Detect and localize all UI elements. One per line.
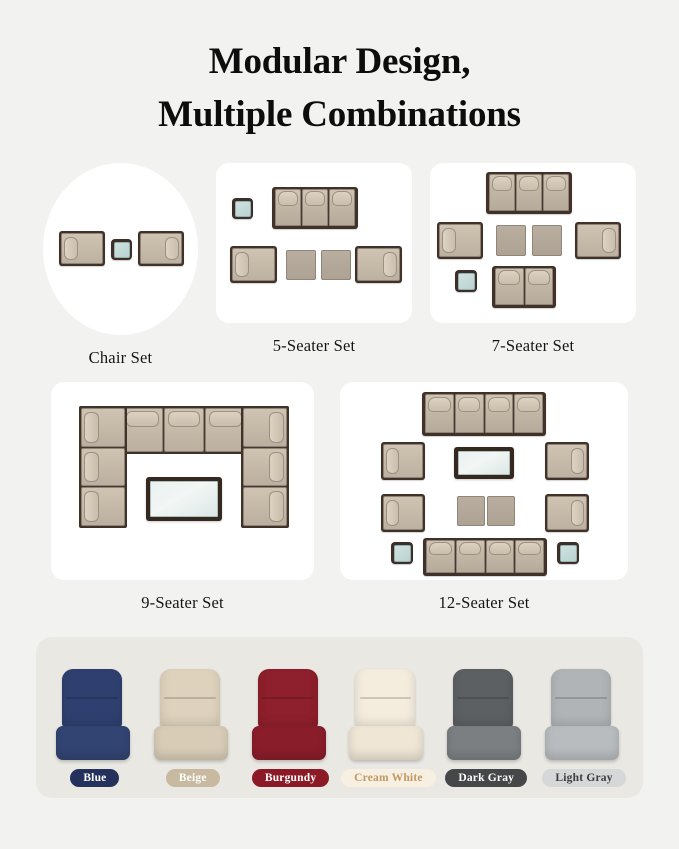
armchair-left-upper [381,442,425,480]
color-swatch-light-gray[interactable]: Light Gray [536,669,632,787]
4-seat-sofa-bottom [423,538,547,576]
ottoman-1 [496,225,526,256]
cushion-seat [56,726,130,760]
color-label-light-gray: Light Gray [542,769,625,787]
side-table [232,198,253,219]
set-7-seater-set[interactable]: 7-Seater Set [430,163,636,356]
set-9-seater-set[interactable]: 9-Seater Set [51,382,314,613]
armchair-left-lower [381,494,425,532]
set-12-seater-set[interactable]: 12-Seater Set [340,382,628,613]
cushion-illustration [545,669,623,762]
side-table [455,270,477,292]
cushion-back [355,669,415,729]
cushion-illustration [56,669,134,762]
cushion-back [62,669,122,729]
cushion-seat [154,726,228,760]
side-table [111,239,132,260]
armchair-right-upper [545,442,589,480]
set-label-7-seater-set: 7-Seater Set [492,336,575,356]
ottoman-2 [487,496,515,526]
cushion-back [453,669,513,729]
cushion-seat [447,726,521,760]
ottoman-1 [457,496,485,526]
sets-row-top: Chair Set 5-Seater Set [0,163,679,368]
set-label-12-seater-set: 12-Seater Set [438,593,529,613]
cushion-illustration [447,669,525,762]
set-card-12-seater-set [340,382,628,580]
3-seat-sofa [486,172,572,214]
armchair-left [230,246,277,283]
cushion-back [258,669,318,729]
2-seat-loveseat [492,266,556,308]
color-options-panel: Blue Beige Burgundy Cream White [36,637,643,798]
armchair-left [59,231,105,266]
sectional-right-run [241,406,289,528]
3-seat-sofa [272,187,358,229]
color-swatch-burgundy[interactable]: Burgundy [243,669,339,787]
armchair-right [138,231,184,266]
armchair-left [437,222,483,259]
glass-coffee-table [454,447,514,479]
sets-row-bottom: 9-Seater Set 12-Seater Set [0,382,679,613]
cushion-illustration [349,669,427,762]
set-label-9-seater-set: 9-Seater Set [141,593,224,613]
set-label-5-seater-set: 5-Seater Set [273,336,356,356]
color-label-dark-gray: Dark Gray [445,769,527,787]
title-line-1: Modular Design, [0,36,679,89]
ottoman-1 [286,250,316,280]
4-seat-sofa-top [422,392,546,436]
color-label-burgundy: Burgundy [252,769,329,787]
set-card-chair-set [43,163,198,335]
armchair-right [575,222,621,259]
cushion-seat [545,726,619,760]
color-label-blue: Blue [70,769,119,787]
side-table-left [391,542,413,564]
color-swatch-beige[interactable]: Beige [145,669,241,787]
armchair-right [355,246,402,283]
set-chair-set[interactable]: Chair Set [43,163,198,368]
color-swatch-dark-gray[interactable]: Dark Gray [438,669,534,787]
glass-coffee-table [146,477,222,521]
color-label-beige: Beige [166,769,220,787]
armchair-right-lower [545,494,589,532]
set-card-9-seater-set [51,382,314,580]
ottoman-2 [532,225,562,256]
set-card-7-seater-set [430,163,636,323]
sectional-left-run [79,406,127,528]
title-line-2: Multiple Combinations [0,89,679,142]
set-card-5-seater-set [216,163,412,323]
side-table-right [557,542,579,564]
cushion-illustration [154,669,232,762]
page-title: Modular Design, Multiple Combinations [0,0,679,141]
color-swatch-blue[interactable]: Blue [47,669,143,787]
cushion-back [160,669,220,729]
set-5-seater-set[interactable]: 5-Seater Set [216,163,412,356]
cushion-seat [252,726,326,760]
set-label-chair-set: Chair Set [89,348,153,368]
color-swatch-cream-white[interactable]: Cream White [340,669,436,787]
cushion-seat [349,726,423,760]
color-label-cream-white: Cream White [341,769,436,787]
ottoman-2 [321,250,351,280]
cushion-illustration [252,669,330,762]
cushion-back [551,669,611,729]
